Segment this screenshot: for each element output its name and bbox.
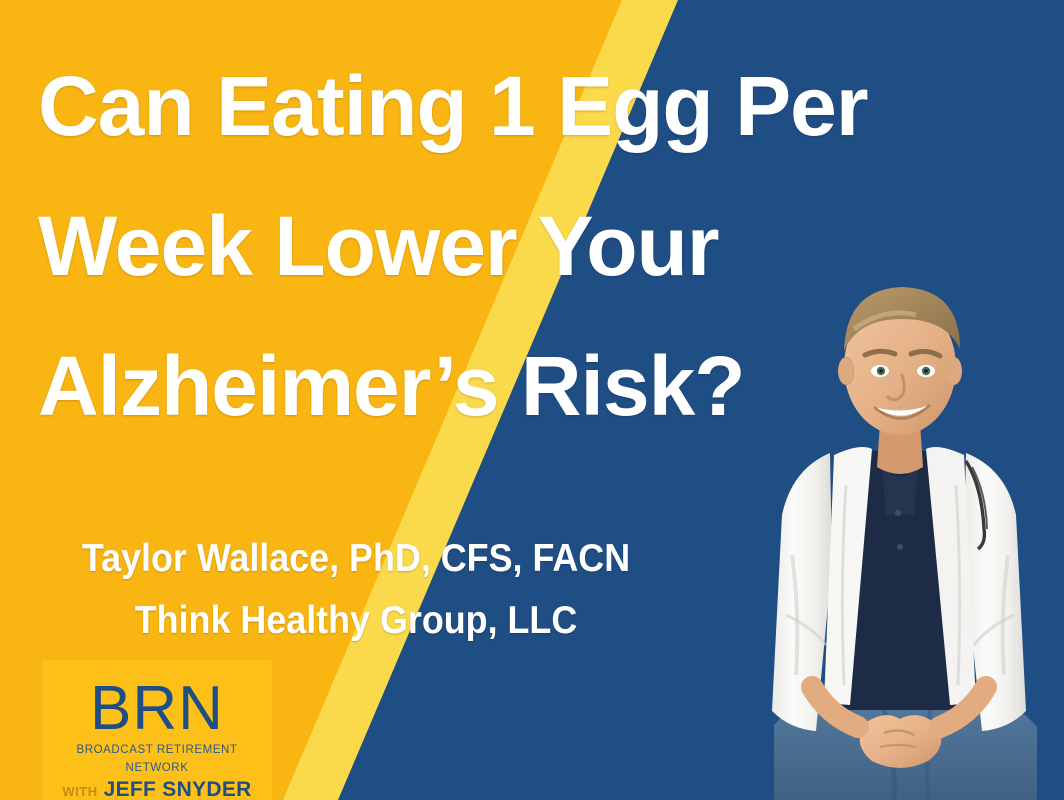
presentation-slide: Can Eating 1 Egg Per Week Lower Your Alz…	[0, 0, 1064, 800]
title-line-3: Alzheimer’s Risk?	[38, 316, 1038, 456]
brn-host-line: WITHJEFF SNYDER	[42, 779, 272, 800]
title-line-2: Week Lower Your	[38, 176, 1038, 316]
title-line-1: Can Eating 1 Egg Per	[38, 36, 1038, 176]
brn-host-name: JEFF SNYDER	[104, 778, 252, 800]
presenter-name: Taylor Wallace, PhD, CFS, FACN	[28, 528, 683, 590]
brn-tagline: BROADCAST RETIREMENT NETWORK	[47, 740, 268, 776]
brn-wordmark: BRN	[42, 678, 272, 740]
brn-logo: BRN BROADCAST RETIREMENT NETWORK WITHJEF…	[42, 662, 272, 798]
presenter-credit: Taylor Wallace, PhD, CFS, FACN Think Hea…	[0, 528, 712, 652]
brn-host-prefix: WITH	[62, 784, 97, 800]
presenter-organization: Think Healthy Group, LLC	[28, 590, 683, 652]
slide-title: Can Eating 1 Egg Per Week Lower Your Alz…	[38, 36, 1038, 456]
